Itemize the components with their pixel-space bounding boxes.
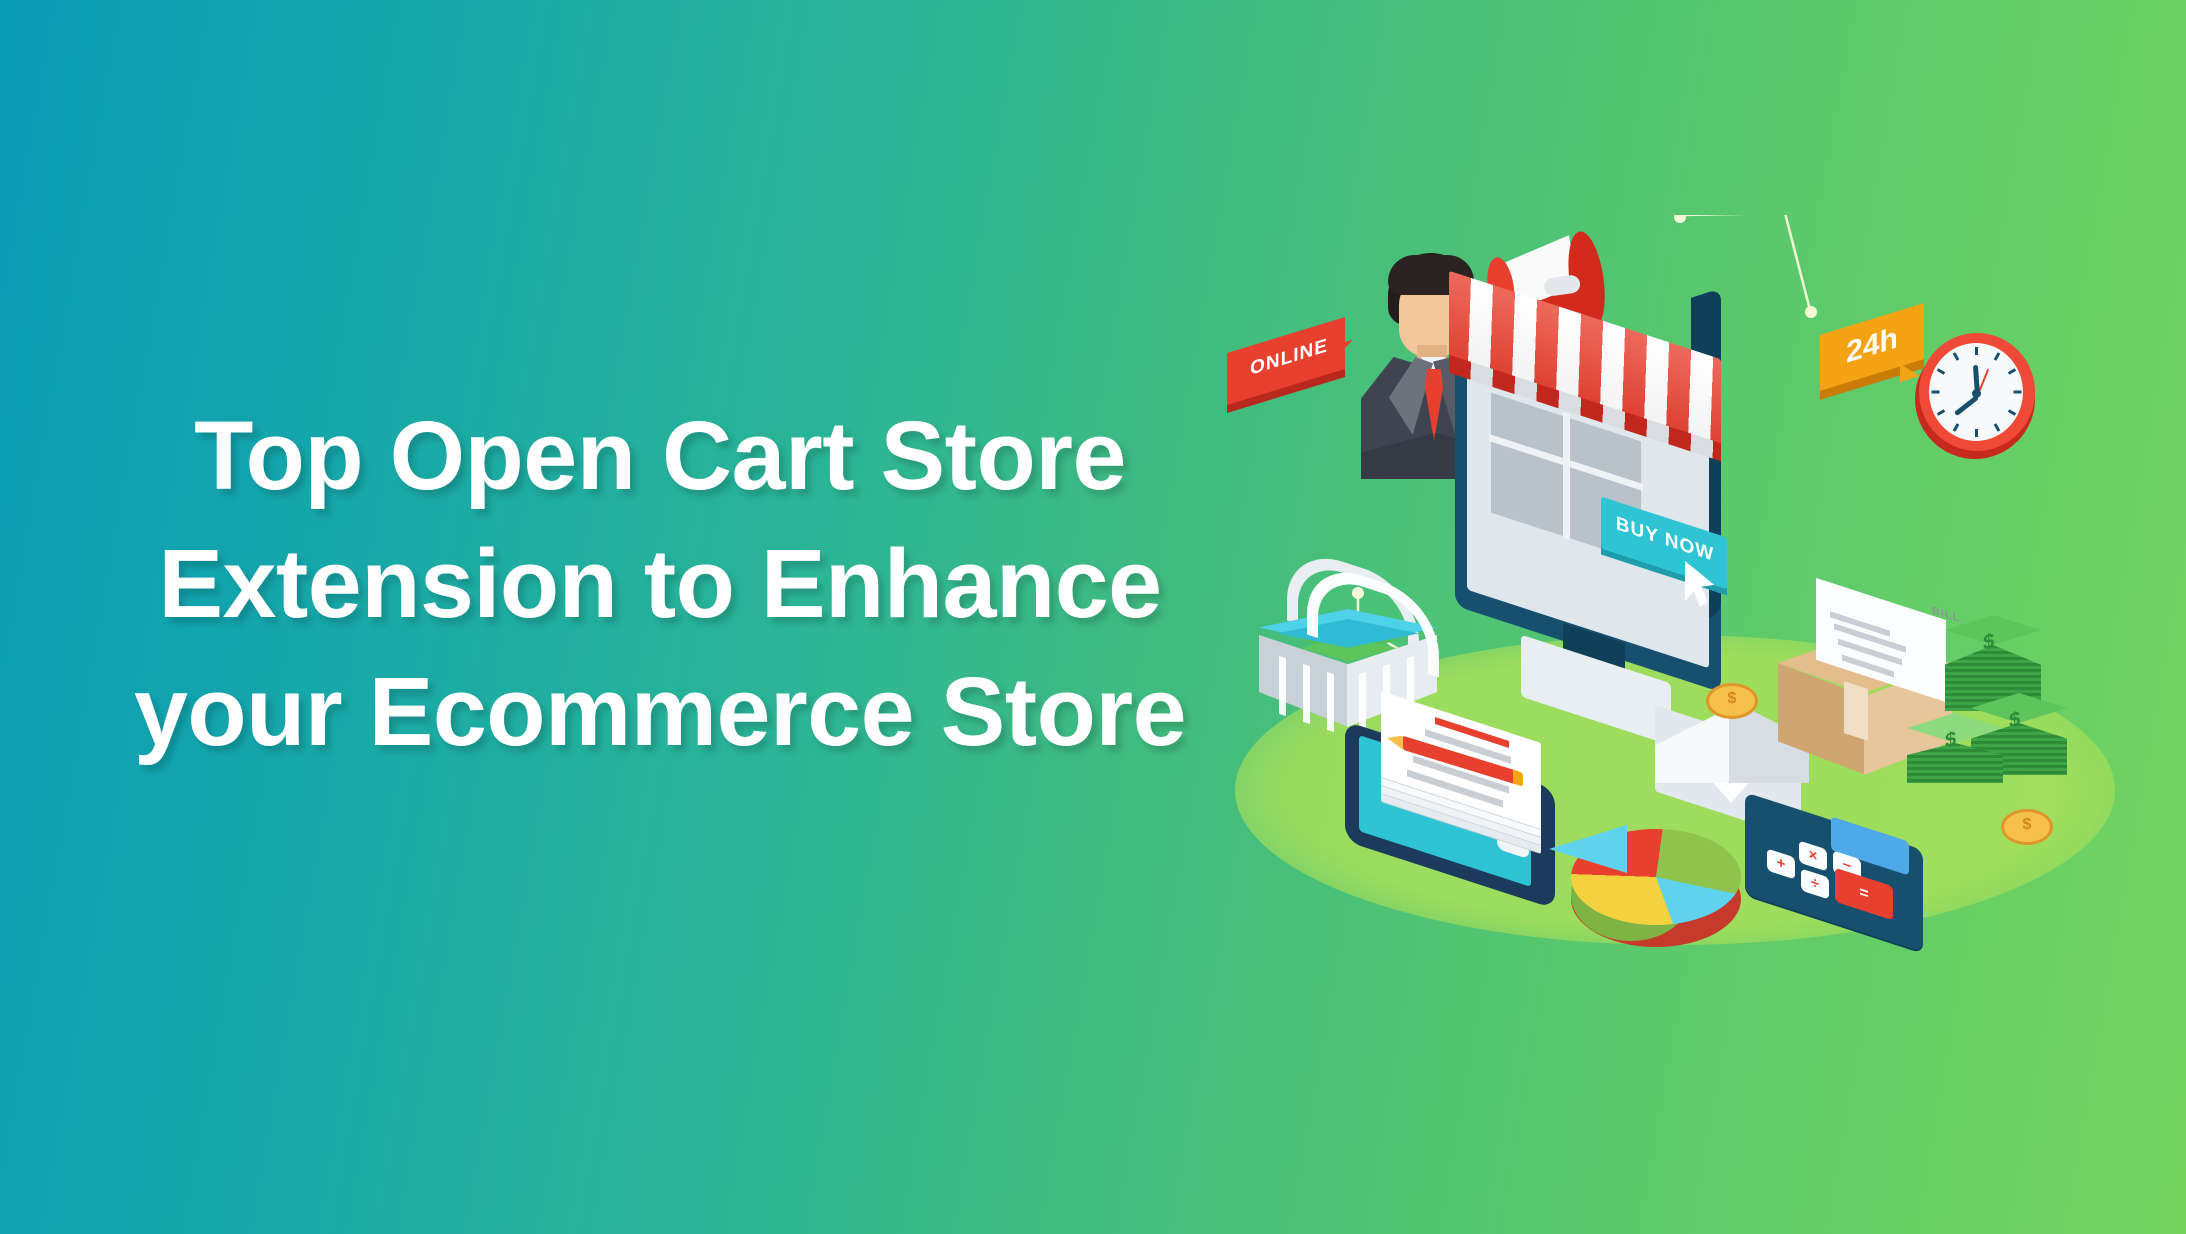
headline-line-1: Top Open Cart Store	[100, 392, 1220, 520]
shop-monitor: BUY NOW	[1455, 303, 1785, 733]
wall-clock-icon	[1915, 333, 2035, 459]
page-title: Top Open Cart Store Extension to Enhance…	[100, 392, 1220, 776]
headline-line-2: Extension to Enhance	[100, 520, 1220, 648]
basket-slat	[1279, 656, 1286, 716]
money-stacks-icon: $ $ $ $	[1905, 615, 2135, 845]
promo-banner: Top Open Cart Store Extension to Enhance…	[0, 0, 2186, 1234]
basket-slat	[1359, 672, 1366, 732]
buy-now-button[interactable]: BUY NOW	[1601, 517, 1733, 595]
clock-tick	[1932, 391, 1940, 394]
document-stack	[1381, 717, 1571, 857]
gold-coin: $	[1706, 683, 1758, 719]
clock-tick	[1975, 347, 1978, 355]
gold-coin: $	[2001, 809, 2053, 845]
online-badge: ONLINE	[1227, 327, 1355, 405]
dollar-symbol: $	[2009, 707, 2020, 734]
dollar-symbol: $	[1945, 727, 1956, 754]
striped-awning	[1449, 315, 1749, 455]
clock-tick	[2014, 391, 2022, 394]
clock-center-pin	[1972, 389, 1981, 398]
basket-slat	[1303, 664, 1310, 724]
pencil-eraser	[1513, 770, 1523, 787]
basket-slat	[1327, 672, 1334, 732]
clock-tick	[1975, 429, 1978, 437]
ecommerce-illustration: ONLINE	[1225, 215, 2145, 935]
headline-line-3: your Ecommerce Store	[100, 648, 1220, 776]
dollar-symbol: $	[1983, 629, 1994, 656]
pie-chart-icon	[1555, 815, 1755, 985]
